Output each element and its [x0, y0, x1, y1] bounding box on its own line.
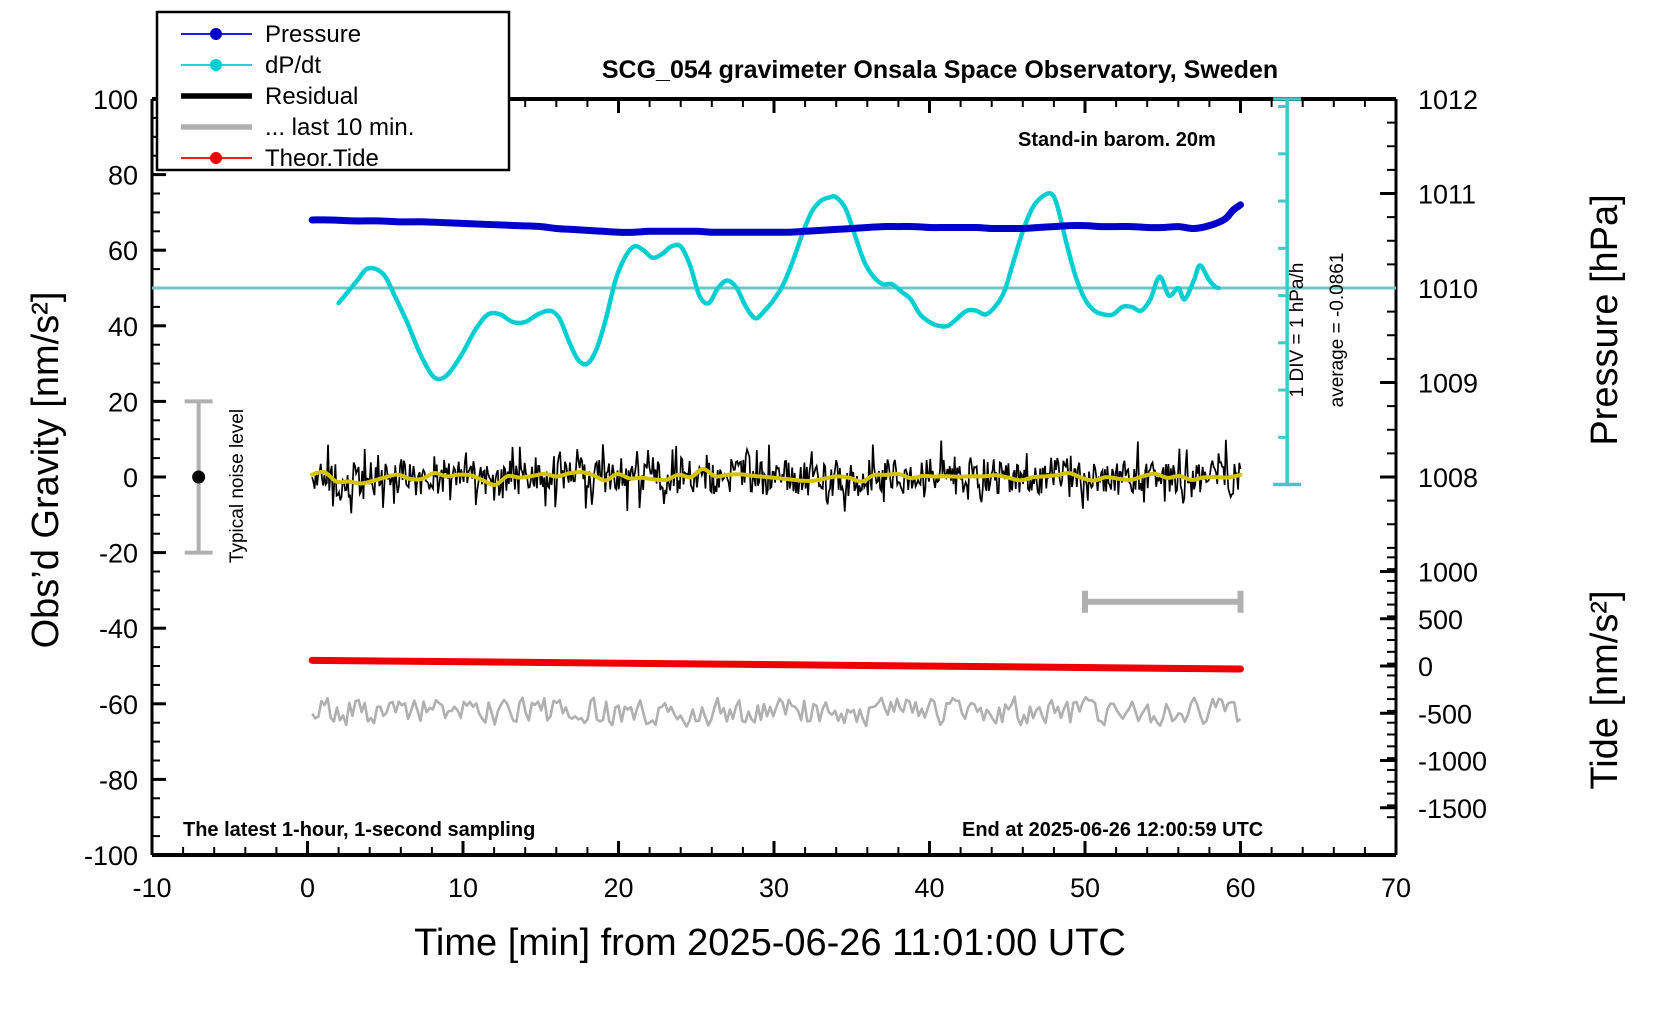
- legend-label-2: Residual: [265, 83, 358, 110]
- y-tick-label-left: -100: [84, 841, 138, 871]
- y-tick-label-tide: 1000: [1418, 558, 1478, 588]
- y-tick-label-tide: -1500: [1418, 794, 1487, 824]
- x-tick-label: 10: [448, 873, 478, 903]
- annotation-average: average = -0.0861: [1327, 253, 1348, 408]
- y-axis-label-left: Obs’d Gravity [nm/s²]: [25, 292, 67, 649]
- legend-label-3: ... last 10 min.: [265, 114, 414, 141]
- x-tick-label: -10: [132, 873, 171, 903]
- annotation-div-scale: 1 DIV = 1 hPa/h: [1287, 263, 1308, 398]
- x-axis-label: Time [min] from 2025-06-26 11:01:00 UTC: [414, 922, 1126, 964]
- y-tick-label-tide: 500: [1418, 605, 1463, 635]
- y-tick-label-left: -20: [99, 539, 138, 569]
- legend-label-0: Pressure: [265, 21, 361, 48]
- legend-label-4: Theor.Tide: [265, 145, 379, 172]
- y-tick-label-tide: -1000: [1418, 747, 1487, 777]
- y-tick-label-left: 80: [108, 161, 138, 191]
- legend-marker[interactable]: [210, 152, 222, 164]
- noise-level-center-dot[interactable]: [192, 471, 205, 484]
- x-tick-label: 40: [914, 873, 944, 903]
- x-tick-label: 60: [1225, 873, 1255, 903]
- chart-root: -10010203040506070100806040200-20-40-60-…: [0, 0, 1660, 1020]
- annotation-noise-level: Typical noise level: [227, 409, 248, 563]
- y-tick-label-left: 40: [108, 312, 138, 342]
- y-tick-label-left: -40: [99, 614, 138, 644]
- y-axis-label-right-pressure: Pressure [hPa]: [1584, 194, 1626, 445]
- y-tick-label-pressure: 1010: [1418, 274, 1478, 304]
- annotation-end-time: End at 2025-06-26 12:00:59 UTC: [962, 819, 1263, 841]
- annotation-sampling: The latest 1-hour, 1-second sampling: [183, 819, 535, 841]
- y-tick-label-tide: 0: [1418, 652, 1433, 682]
- y-tick-label-pressure: 1011: [1418, 180, 1476, 210]
- x-tick-label: 20: [603, 873, 633, 903]
- y-tick-label-left: -80: [99, 765, 138, 795]
- y-axis-label-right-tide: Tide [nm/s²]: [1584, 590, 1626, 789]
- x-tick-label: 50: [1070, 873, 1100, 903]
- y-tick-label-pressure: 1009: [1418, 369, 1478, 399]
- chart-title: SCG_054 gravimeter Onsala Space Observat…: [602, 56, 1278, 84]
- y-tick-label-left: 60: [108, 236, 138, 266]
- legend-label-1: dP/dt: [265, 52, 321, 79]
- y-tick-label-pressure: 1008: [1418, 463, 1478, 493]
- gravimeter-chart: -10010203040506070100806040200-20-40-60-…: [0, 0, 1660, 1020]
- x-tick-label: 70: [1381, 873, 1411, 903]
- legend-marker[interactable]: [210, 28, 222, 40]
- legend-marker[interactable]: [210, 59, 222, 71]
- y-tick-label-left: 20: [108, 387, 138, 417]
- y-tick-label-tide: -500: [1418, 699, 1472, 729]
- x-tick-label: 0: [300, 873, 315, 903]
- x-tick-label: 30: [759, 873, 789, 903]
- annotation-standin-barometer: Stand-in barom. 20m: [1018, 129, 1216, 151]
- y-tick-label-left: 0: [123, 463, 138, 493]
- y-tick-label-left: -60: [99, 690, 138, 720]
- y-tick-label-left: 100: [93, 85, 138, 115]
- y-tick-label-pressure: 1012: [1418, 85, 1478, 115]
